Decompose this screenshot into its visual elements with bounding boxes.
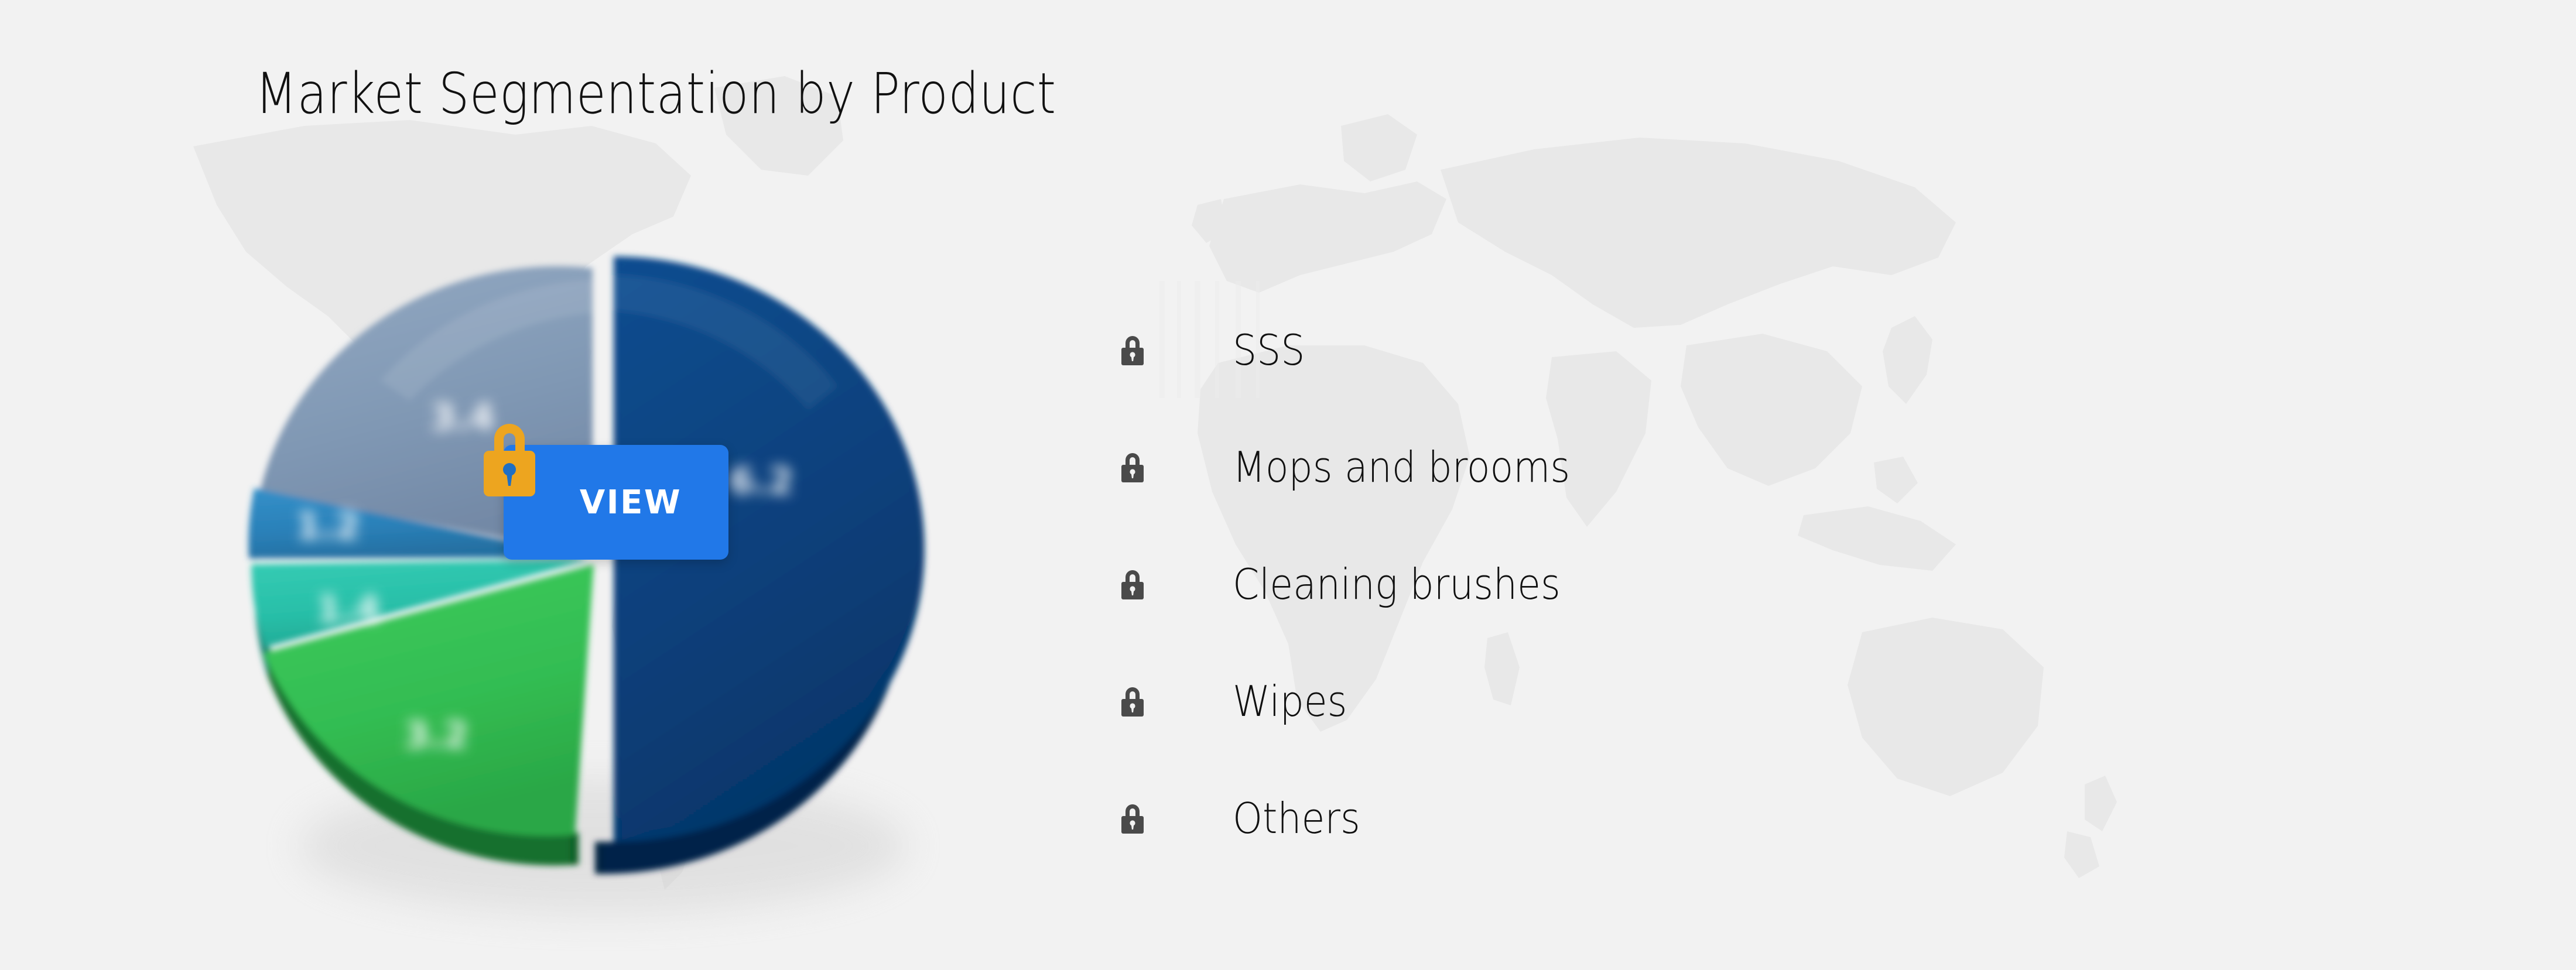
- padlock-locked-icon: [1117, 802, 1148, 835]
- chart-canvas: Market Segmentation by Product: [0, 0, 2576, 970]
- legend-item-others[interactable]: Others: [1113, 760, 1932, 877]
- legend-item-label: Mops and brooms: [1233, 443, 1570, 492]
- padlock-locked-icon: [1117, 685, 1148, 718]
- legend-item-cleaning-brushes[interactable]: Cleaning brushes: [1113, 526, 1932, 643]
- legend-item-label: Cleaning brushes: [1233, 560, 1561, 609]
- padlock-locked-icon: [477, 416, 542, 501]
- legend-item-mops-and-brooms[interactable]: Mops and brooms: [1113, 409, 1932, 526]
- view-button-label: VIEW: [550, 484, 682, 522]
- legend-item-sss[interactable]: SSS: [1113, 292, 1932, 409]
- svg-text:1.2: 1.2: [296, 505, 360, 547]
- legend-item-label: SSS: [1233, 325, 1305, 375]
- locked-content-overlay: VIEW: [468, 410, 744, 568]
- svg-text:3.2: 3.2: [404, 714, 468, 756]
- padlock-locked-icon: [1117, 334, 1148, 366]
- legend-item-label: Others: [1233, 794, 1360, 843]
- legend-item-wipes[interactable]: Wipes: [1113, 643, 1932, 760]
- chart-legend: SSS Mops and brooms: [1113, 292, 1932, 877]
- svg-text:1.4: 1.4: [316, 588, 381, 630]
- legend-item-label: Wipes: [1233, 677, 1347, 726]
- padlock-locked-icon: [1117, 451, 1148, 484]
- padlock-locked-icon: [1117, 568, 1148, 601]
- page-title: Market Segmentation by Product: [255, 61, 1056, 126]
